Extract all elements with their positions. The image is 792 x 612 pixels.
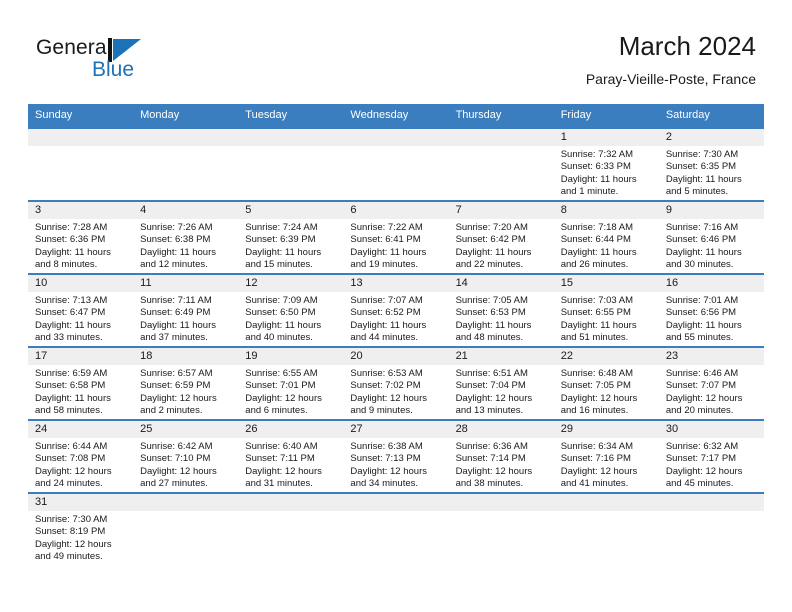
- day-detail-line: Daylight: 11 hours: [35, 247, 127, 259]
- day-detail-line: Daylight: 12 hours: [140, 466, 232, 478]
- day-detail-line: Daylight: 11 hours: [561, 247, 653, 259]
- title-block: March 2024 Paray-Vieille-Poste, France: [586, 30, 756, 89]
- day-number: [238, 129, 343, 146]
- day-detail-line: Sunset: 6:49 PM: [140, 307, 232, 319]
- day-cell-inner: 25Sunrise: 6:42 AMSunset: 7:10 PMDayligh…: [133, 421, 238, 492]
- calendar-empty-cell: [343, 128, 448, 201]
- day-detail-line: Sunrise: 6:34 AM: [561, 441, 653, 453]
- day-cell-inner: 7Sunrise: 7:20 AMSunset: 6:42 PMDaylight…: [449, 202, 554, 273]
- calendar-day-cell[interactable]: 3Sunrise: 7:28 AMSunset: 6:36 PMDaylight…: [28, 201, 133, 274]
- day-details: Sunrise: 6:38 AMSunset: 7:13 PMDaylight:…: [343, 438, 448, 491]
- day-cell-inner: [238, 129, 343, 200]
- day-detail-line: Sunrise: 7:30 AM: [666, 149, 758, 161]
- calendar-day-cell[interactable]: 7Sunrise: 7:20 AMSunset: 6:42 PMDaylight…: [449, 201, 554, 274]
- day-detail-line: Sunset: 6:46 PM: [666, 234, 758, 246]
- day-number: 3: [28, 202, 133, 219]
- day-cell-inner: [554, 494, 659, 565]
- day-detail-line: Sunrise: 6:40 AM: [245, 441, 337, 453]
- day-cell-inner: [238, 494, 343, 565]
- day-details: Sunrise: 7:01 AMSunset: 6:56 PMDaylight:…: [659, 292, 764, 345]
- day-detail-line: Daylight: 11 hours: [561, 174, 653, 186]
- day-detail-line: Sunset: 7:11 PM: [245, 453, 337, 465]
- day-detail-line: Sunset: 8:19 PM: [35, 526, 127, 538]
- day-detail-line: Sunrise: 7:03 AM: [561, 295, 653, 307]
- day-detail-line: Daylight: 11 hours: [561, 320, 653, 332]
- day-detail-line: Sunrise: 6:51 AM: [456, 368, 548, 380]
- day-number: [449, 129, 554, 146]
- day-detail-line: Sunset: 6:44 PM: [561, 234, 653, 246]
- day-detail-line: Daylight: 12 hours: [245, 393, 337, 405]
- day-detail-line: and 5 minutes.: [666, 186, 758, 198]
- day-detail-line: and 27 minutes.: [140, 478, 232, 490]
- calendar-day-cell[interactable]: 13Sunrise: 7:07 AMSunset: 6:52 PMDayligh…: [343, 274, 448, 347]
- day-detail-line: Daylight: 12 hours: [456, 466, 548, 478]
- day-detail-line: Daylight: 12 hours: [456, 393, 548, 405]
- day-detail-line: and 44 minutes.: [350, 332, 442, 344]
- day-details: Sunrise: 6:51 AMSunset: 7:04 PMDaylight:…: [449, 365, 554, 418]
- day-detail-line: Daylight: 12 hours: [140, 393, 232, 405]
- day-detail-line: Sunset: 7:08 PM: [35, 453, 127, 465]
- day-number: 23: [659, 348, 764, 365]
- day-cell-inner: [659, 494, 764, 565]
- day-detail-line: and 31 minutes.: [245, 478, 337, 490]
- day-cell-inner: [343, 494, 448, 565]
- day-detail-line: Sunset: 7:05 PM: [561, 380, 653, 392]
- day-cell-inner: 5Sunrise: 7:24 AMSunset: 6:39 PMDaylight…: [238, 202, 343, 273]
- day-number: 4: [133, 202, 238, 219]
- calendar-day-cell[interactable]: 11Sunrise: 7:11 AMSunset: 6:49 PMDayligh…: [133, 274, 238, 347]
- day-detail-line: Sunrise: 6:53 AM: [350, 368, 442, 380]
- day-detail-line: Sunset: 6:52 PM: [350, 307, 442, 319]
- day-detail-line: Sunset: 6:55 PM: [561, 307, 653, 319]
- day-detail-line: Daylight: 12 hours: [666, 466, 758, 478]
- day-number: 27: [343, 421, 448, 438]
- day-cell-inner: [28, 129, 133, 200]
- day-cell-inner: 10Sunrise: 7:13 AMSunset: 6:47 PMDayligh…: [28, 275, 133, 346]
- calendar-day-cell[interactable]: 22Sunrise: 6:48 AMSunset: 7:05 PMDayligh…: [554, 347, 659, 420]
- day-detail-line: and 12 minutes.: [140, 259, 232, 271]
- calendar-day-cell[interactable]: 30Sunrise: 6:32 AMSunset: 7:17 PMDayligh…: [659, 420, 764, 493]
- day-detail-line: Daylight: 12 hours: [561, 466, 653, 478]
- day-cell-inner: 31Sunrise: 7:30 AMSunset: 8:19 PMDayligh…: [28, 494, 133, 565]
- day-details: Sunrise: 7:30 AMSunset: 6:35 PMDaylight:…: [659, 146, 764, 199]
- day-detail-line: and 48 minutes.: [456, 332, 548, 344]
- day-cell-inner: [449, 494, 554, 565]
- day-detail-line: Sunset: 7:14 PM: [456, 453, 548, 465]
- day-detail-line: Daylight: 11 hours: [245, 320, 337, 332]
- day-detail-line: Daylight: 11 hours: [245, 247, 337, 259]
- weekday-header-saturday: Saturday: [659, 104, 764, 128]
- day-detail-line: and 49 minutes.: [35, 551, 127, 563]
- day-number: 28: [449, 421, 554, 438]
- day-number: [238, 494, 343, 511]
- day-detail-line: Daylight: 11 hours: [35, 320, 127, 332]
- day-details: Sunrise: 6:44 AMSunset: 7:08 PMDaylight:…: [28, 438, 133, 491]
- day-detail-line: and 20 minutes.: [666, 405, 758, 417]
- day-details: Sunrise: 7:24 AMSunset: 6:39 PMDaylight:…: [238, 219, 343, 272]
- day-detail-line: Sunrise: 6:44 AM: [35, 441, 127, 453]
- day-detail-line: Sunset: 7:16 PM: [561, 453, 653, 465]
- day-number: 13: [343, 275, 448, 292]
- day-cell-inner: 2Sunrise: 7:30 AMSunset: 6:35 PMDaylight…: [659, 129, 764, 200]
- day-detail-line: Sunset: 6:36 PM: [35, 234, 127, 246]
- day-detail-line: Sunrise: 7:09 AM: [245, 295, 337, 307]
- day-detail-line: Sunrise: 6:59 AM: [35, 368, 127, 380]
- day-detail-line: Sunset: 6:58 PM: [35, 380, 127, 392]
- calendar-day-cell[interactable]: 14Sunrise: 7:05 AMSunset: 6:53 PMDayligh…: [449, 274, 554, 347]
- day-detail-line: and 16 minutes.: [561, 405, 653, 417]
- calendar-empty-cell: [28, 128, 133, 201]
- calendar-week-row: 1Sunrise: 7:32 AMSunset: 6:33 PMDaylight…: [28, 128, 764, 201]
- day-detail-line: Sunrise: 7:20 AM: [456, 222, 548, 234]
- day-detail-line: and 13 minutes.: [456, 405, 548, 417]
- day-cell-inner: 22Sunrise: 6:48 AMSunset: 7:05 PMDayligh…: [554, 348, 659, 419]
- day-detail-line: Sunset: 6:50 PM: [245, 307, 337, 319]
- day-number: 6: [343, 202, 448, 219]
- day-details: Sunrise: 7:13 AMSunset: 6:47 PMDaylight:…: [28, 292, 133, 345]
- day-detail-line: Sunset: 6:47 PM: [35, 307, 127, 319]
- day-detail-line: Sunset: 7:07 PM: [666, 380, 758, 392]
- day-detail-line: and 15 minutes.: [245, 259, 337, 271]
- day-number: 5: [238, 202, 343, 219]
- day-details: Sunrise: 7:07 AMSunset: 6:52 PMDaylight:…: [343, 292, 448, 345]
- day-detail-line: and 37 minutes.: [140, 332, 232, 344]
- weekday-header-wednesday: Wednesday: [343, 104, 448, 128]
- day-cell-inner: 18Sunrise: 6:57 AMSunset: 6:59 PMDayligh…: [133, 348, 238, 419]
- day-cell-inner: 3Sunrise: 7:28 AMSunset: 6:36 PMDaylight…: [28, 202, 133, 273]
- day-detail-line: and 24 minutes.: [35, 478, 127, 490]
- day-number: 20: [343, 348, 448, 365]
- day-detail-line: Daylight: 12 hours: [35, 539, 127, 551]
- calendar-week-row: 31Sunrise: 7:30 AMSunset: 8:19 PMDayligh…: [28, 493, 764, 565]
- day-details: Sunrise: 7:11 AMSunset: 6:49 PMDaylight:…: [133, 292, 238, 345]
- day-detail-line: Sunset: 7:02 PM: [350, 380, 442, 392]
- day-detail-line: Daylight: 11 hours: [140, 320, 232, 332]
- day-detail-line: Daylight: 12 hours: [561, 393, 653, 405]
- day-number: [133, 129, 238, 146]
- day-detail-line: Daylight: 11 hours: [350, 247, 442, 259]
- day-cell-inner: 14Sunrise: 7:05 AMSunset: 6:53 PMDayligh…: [449, 275, 554, 346]
- day-detail-line: Sunset: 6:56 PM: [666, 307, 758, 319]
- day-number: 22: [554, 348, 659, 365]
- calendar-body: 1Sunrise: 7:32 AMSunset: 6:33 PMDaylight…: [28, 128, 764, 565]
- day-detail-line: Sunrise: 6:55 AM: [245, 368, 337, 380]
- day-details: Sunrise: 6:57 AMSunset: 6:59 PMDaylight:…: [133, 365, 238, 418]
- calendar-day-cell[interactable]: 21Sunrise: 6:51 AMSunset: 7:04 PMDayligh…: [449, 347, 554, 420]
- day-details: Sunrise: 6:48 AMSunset: 7:05 PMDaylight:…: [554, 365, 659, 418]
- day-detail-line: Daylight: 12 hours: [35, 466, 127, 478]
- calendar-day-cell[interactable]: 16Sunrise: 7:01 AMSunset: 6:56 PMDayligh…: [659, 274, 764, 347]
- day-number: 17: [28, 348, 133, 365]
- day-cell-inner: 9Sunrise: 7:16 AMSunset: 6:46 PMDaylight…: [659, 202, 764, 273]
- weekday-header-tuesday: Tuesday: [238, 104, 343, 128]
- day-detail-line: and 2 minutes.: [140, 405, 232, 417]
- day-detail-line: Daylight: 11 hours: [35, 393, 127, 405]
- day-details: Sunrise: 7:30 AMSunset: 8:19 PMDaylight:…: [28, 511, 133, 564]
- day-detail-line: Daylight: 11 hours: [350, 320, 442, 332]
- day-number: 16: [659, 275, 764, 292]
- calendar-day-cell[interactable]: 18Sunrise: 6:57 AMSunset: 6:59 PMDayligh…: [133, 347, 238, 420]
- calendar-day-cell[interactable]: 28Sunrise: 6:36 AMSunset: 7:14 PMDayligh…: [449, 420, 554, 493]
- calendar-day-cell[interactable]: 15Sunrise: 7:03 AMSunset: 6:55 PMDayligh…: [554, 274, 659, 347]
- calendar-empty-cell: [238, 493, 343, 565]
- calendar-empty-cell: [449, 493, 554, 565]
- day-detail-line: Sunset: 7:13 PM: [350, 453, 442, 465]
- day-number: 1: [554, 129, 659, 146]
- day-number: [659, 494, 764, 511]
- day-detail-line: and 1 minute.: [561, 186, 653, 198]
- day-cell-inner: 6Sunrise: 7:22 AMSunset: 6:41 PMDaylight…: [343, 202, 448, 273]
- day-detail-line: Sunrise: 7:18 AM: [561, 222, 653, 234]
- day-detail-line: Sunset: 6:38 PM: [140, 234, 232, 246]
- weekday-header-friday: Friday: [554, 104, 659, 128]
- brand-logo[interactable]: General Blue: [36, 36, 216, 88]
- calendar-day-cell[interactable]: 5Sunrise: 7:24 AMSunset: 6:39 PMDaylight…: [238, 201, 343, 274]
- day-detail-line: Sunrise: 6:48 AM: [561, 368, 653, 380]
- day-number: 18: [133, 348, 238, 365]
- day-cell-inner: [133, 494, 238, 565]
- calendar-empty-cell: [133, 128, 238, 201]
- calendar-week-row: 17Sunrise: 6:59 AMSunset: 6:58 PMDayligh…: [28, 347, 764, 420]
- day-detail-line: Sunrise: 7:30 AM: [35, 514, 127, 526]
- day-details: Sunrise: 6:46 AMSunset: 7:07 PMDaylight:…: [659, 365, 764, 418]
- day-cell-inner: 23Sunrise: 6:46 AMSunset: 7:07 PMDayligh…: [659, 348, 764, 419]
- day-number: 11: [133, 275, 238, 292]
- day-cell-inner: [133, 129, 238, 200]
- calendar-week-row: 24Sunrise: 6:44 AMSunset: 7:08 PMDayligh…: [28, 420, 764, 493]
- day-detail-line: Sunrise: 6:46 AM: [666, 368, 758, 380]
- day-cell-inner: 24Sunrise: 6:44 AMSunset: 7:08 PMDayligh…: [28, 421, 133, 492]
- day-details: Sunrise: 7:05 AMSunset: 6:53 PMDaylight:…: [449, 292, 554, 345]
- day-details: Sunrise: 6:32 AMSunset: 7:17 PMDaylight:…: [659, 438, 764, 491]
- day-details: Sunrise: 6:36 AMSunset: 7:14 PMDaylight:…: [449, 438, 554, 491]
- weekday-header-sunday: Sunday: [28, 104, 133, 128]
- day-cell-inner: 20Sunrise: 6:53 AMSunset: 7:02 PMDayligh…: [343, 348, 448, 419]
- day-cell-inner: 11Sunrise: 7:11 AMSunset: 6:49 PMDayligh…: [133, 275, 238, 346]
- calendar-day-cell[interactable]: 10Sunrise: 7:13 AMSunset: 6:47 PMDayligh…: [28, 274, 133, 347]
- day-cell-inner: 1Sunrise: 7:32 AMSunset: 6:33 PMDaylight…: [554, 129, 659, 200]
- day-cell-inner: 26Sunrise: 6:40 AMSunset: 7:11 PMDayligh…: [238, 421, 343, 492]
- day-cell-inner: 16Sunrise: 7:01 AMSunset: 6:56 PMDayligh…: [659, 275, 764, 346]
- calendar-empty-cell: [659, 493, 764, 565]
- day-detail-line: Daylight: 11 hours: [666, 247, 758, 259]
- day-number: 24: [28, 421, 133, 438]
- day-details: Sunrise: 7:28 AMSunset: 6:36 PMDaylight:…: [28, 219, 133, 272]
- page-header: General Blue March 2024 Paray-Vieille-Po…: [0, 0, 792, 103]
- calendar-day-cell[interactable]: 29Sunrise: 6:34 AMSunset: 7:16 PMDayligh…: [554, 420, 659, 493]
- calendar-empty-cell: [449, 128, 554, 201]
- page-subtitle: Paray-Vieille-Poste, France: [586, 69, 756, 89]
- day-detail-line: Sunset: 7:10 PM: [140, 453, 232, 465]
- day-details: Sunrise: 6:53 AMSunset: 7:02 PMDaylight:…: [343, 365, 448, 418]
- day-detail-line: Sunrise: 7:32 AM: [561, 149, 653, 161]
- day-number: [554, 494, 659, 511]
- day-details: Sunrise: 7:09 AMSunset: 6:50 PMDaylight:…: [238, 292, 343, 345]
- day-details: Sunrise: 7:18 AMSunset: 6:44 PMDaylight:…: [554, 219, 659, 272]
- calendar-week-row: 3Sunrise: 7:28 AMSunset: 6:36 PMDaylight…: [28, 201, 764, 274]
- day-detail-line: and 6 minutes.: [245, 405, 337, 417]
- day-cell-inner: 19Sunrise: 6:55 AMSunset: 7:01 PMDayligh…: [238, 348, 343, 419]
- calendar-table: SundayMondayTuesdayWednesdayThursdayFrid…: [28, 104, 764, 565]
- day-details: Sunrise: 6:34 AMSunset: 7:16 PMDaylight:…: [554, 438, 659, 491]
- day-number: 9: [659, 202, 764, 219]
- day-number: 7: [449, 202, 554, 219]
- day-number: [28, 129, 133, 146]
- calendar-day-cell[interactable]: 27Sunrise: 6:38 AMSunset: 7:13 PMDayligh…: [343, 420, 448, 493]
- day-cell-inner: 8Sunrise: 7:18 AMSunset: 6:44 PMDaylight…: [554, 202, 659, 273]
- day-number: [343, 494, 448, 511]
- calendar-day-cell[interactable]: 12Sunrise: 7:09 AMSunset: 6:50 PMDayligh…: [238, 274, 343, 347]
- day-detail-line: Sunrise: 7:24 AM: [245, 222, 337, 234]
- calendar-day-cell[interactable]: 19Sunrise: 6:55 AMSunset: 7:01 PMDayligh…: [238, 347, 343, 420]
- day-detail-line: Sunset: 7:04 PM: [456, 380, 548, 392]
- day-details: Sunrise: 7:26 AMSunset: 6:38 PMDaylight:…: [133, 219, 238, 272]
- day-detail-line: Daylight: 12 hours: [666, 393, 758, 405]
- day-detail-line: and 26 minutes.: [561, 259, 653, 271]
- day-detail-line: and 30 minutes.: [666, 259, 758, 271]
- day-details: Sunrise: 6:55 AMSunset: 7:01 PMDaylight:…: [238, 365, 343, 418]
- day-detail-line: Daylight: 11 hours: [456, 247, 548, 259]
- day-detail-line: Sunset: 6:53 PM: [456, 307, 548, 319]
- day-detail-line: and 40 minutes.: [245, 332, 337, 344]
- calendar-empty-cell: [554, 493, 659, 565]
- day-number: 12: [238, 275, 343, 292]
- day-number: [449, 494, 554, 511]
- day-detail-line: Sunrise: 6:32 AM: [666, 441, 758, 453]
- calendar-day-cell[interactable]: 8Sunrise: 7:18 AMSunset: 6:44 PMDaylight…: [554, 201, 659, 274]
- day-detail-line: Sunrise: 6:42 AM: [140, 441, 232, 453]
- weekday-header-monday: Monday: [133, 104, 238, 128]
- day-details: Sunrise: 6:40 AMSunset: 7:11 PMDaylight:…: [238, 438, 343, 491]
- day-detail-line: Sunrise: 7:22 AM: [350, 222, 442, 234]
- weekday-header-thursday: Thursday: [449, 104, 554, 128]
- day-detail-line: Sunrise: 7:28 AM: [35, 222, 127, 234]
- day-detail-line: Sunset: 6:35 PM: [666, 161, 758, 173]
- day-cell-inner: 27Sunrise: 6:38 AMSunset: 7:13 PMDayligh…: [343, 421, 448, 492]
- calendar-day-cell[interactable]: 2Sunrise: 7:30 AMSunset: 6:35 PMDaylight…: [659, 128, 764, 201]
- day-number: [343, 129, 448, 146]
- day-detail-line: Daylight: 11 hours: [666, 174, 758, 186]
- day-detail-line: Sunset: 6:39 PM: [245, 234, 337, 246]
- day-detail-line: Sunrise: 7:05 AM: [456, 295, 548, 307]
- calendar-day-cell[interactable]: 23Sunrise: 6:46 AMSunset: 7:07 PMDayligh…: [659, 347, 764, 420]
- day-detail-line: Sunrise: 6:38 AM: [350, 441, 442, 453]
- weekday-header-row: SundayMondayTuesdayWednesdayThursdayFrid…: [28, 104, 764, 128]
- day-number: 8: [554, 202, 659, 219]
- day-cell-inner: 4Sunrise: 7:26 AMSunset: 6:38 PMDaylight…: [133, 202, 238, 273]
- day-cell-inner: 13Sunrise: 7:07 AMSunset: 6:52 PMDayligh…: [343, 275, 448, 346]
- day-cell-inner: 17Sunrise: 6:59 AMSunset: 6:58 PMDayligh…: [28, 348, 133, 419]
- calendar-day-cell[interactable]: 26Sunrise: 6:40 AMSunset: 7:11 PMDayligh…: [238, 420, 343, 493]
- day-number: 31: [28, 494, 133, 511]
- day-detail-line: Sunset: 6:33 PM: [561, 161, 653, 173]
- day-number: 19: [238, 348, 343, 365]
- day-detail-line: and 22 minutes.: [456, 259, 548, 271]
- day-detail-line: Sunrise: 7:16 AM: [666, 222, 758, 234]
- day-detail-line: Sunset: 7:17 PM: [666, 453, 758, 465]
- calendar-empty-cell: [133, 493, 238, 565]
- day-details: Sunrise: 7:22 AMSunset: 6:41 PMDaylight:…: [343, 219, 448, 272]
- day-number: 2: [659, 129, 764, 146]
- day-detail-line: and 41 minutes.: [561, 478, 653, 490]
- day-number: 10: [28, 275, 133, 292]
- day-detail-line: and 58 minutes.: [35, 405, 127, 417]
- day-detail-line: Sunrise: 6:57 AM: [140, 368, 232, 380]
- day-detail-line: Sunrise: 6:36 AM: [456, 441, 548, 453]
- day-detail-line: Daylight: 11 hours: [666, 320, 758, 332]
- calendar-day-cell[interactable]: 25Sunrise: 6:42 AMSunset: 7:10 PMDayligh…: [133, 420, 238, 493]
- day-number: 14: [449, 275, 554, 292]
- day-detail-line: Sunset: 7:01 PM: [245, 380, 337, 392]
- day-number: [133, 494, 238, 511]
- day-detail-line: Daylight: 12 hours: [350, 393, 442, 405]
- calendar-day-cell[interactable]: 4Sunrise: 7:26 AMSunset: 6:38 PMDaylight…: [133, 201, 238, 274]
- calendar-day-cell[interactable]: 24Sunrise: 6:44 AMSunset: 7:08 PMDayligh…: [28, 420, 133, 493]
- day-detail-line: Sunset: 6:59 PM: [140, 380, 232, 392]
- day-cell-inner: [343, 129, 448, 200]
- day-detail-line: Sunrise: 7:01 AM: [666, 295, 758, 307]
- day-details: Sunrise: 7:16 AMSunset: 6:46 PMDaylight:…: [659, 219, 764, 272]
- day-detail-line: and 55 minutes.: [666, 332, 758, 344]
- day-detail-line: Daylight: 11 hours: [456, 320, 548, 332]
- day-detail-line: Sunset: 6:41 PM: [350, 234, 442, 246]
- calendar-day-cell[interactable]: 31Sunrise: 7:30 AMSunset: 8:19 PMDayligh…: [28, 493, 133, 565]
- day-cell-inner: [449, 129, 554, 200]
- calendar-day-cell[interactable]: 1Sunrise: 7:32 AMSunset: 6:33 PMDaylight…: [554, 128, 659, 201]
- calendar-empty-cell: [343, 493, 448, 565]
- day-detail-line: Sunrise: 7:07 AM: [350, 295, 442, 307]
- day-detail-line: Daylight: 12 hours: [245, 466, 337, 478]
- day-cell-inner: 28Sunrise: 6:36 AMSunset: 7:14 PMDayligh…: [449, 421, 554, 492]
- day-detail-line: and 9 minutes.: [350, 405, 442, 417]
- calendar-day-cell[interactable]: 9Sunrise: 7:16 AMSunset: 6:46 PMDaylight…: [659, 201, 764, 274]
- day-detail-line: and 8 minutes.: [35, 259, 127, 271]
- day-detail-line: Sunrise: 7:11 AM: [140, 295, 232, 307]
- day-number: 26: [238, 421, 343, 438]
- calendar-header-row: SundayMondayTuesdayWednesdayThursdayFrid…: [28, 104, 764, 128]
- day-details: Sunrise: 7:03 AMSunset: 6:55 PMDaylight:…: [554, 292, 659, 345]
- brand-name-blue: Blue: [92, 58, 134, 82]
- day-cell-inner: 29Sunrise: 6:34 AMSunset: 7:16 PMDayligh…: [554, 421, 659, 492]
- day-cell-inner: 12Sunrise: 7:09 AMSunset: 6:50 PMDayligh…: [238, 275, 343, 346]
- day-detail-line: and 45 minutes.: [666, 478, 758, 490]
- page-title: March 2024: [586, 30, 756, 62]
- day-number: 29: [554, 421, 659, 438]
- day-detail-line: and 51 minutes.: [561, 332, 653, 344]
- calendar-empty-cell: [238, 128, 343, 201]
- day-details: Sunrise: 7:20 AMSunset: 6:42 PMDaylight:…: [449, 219, 554, 272]
- day-number: 30: [659, 421, 764, 438]
- day-cell-inner: 21Sunrise: 6:51 AMSunset: 7:04 PMDayligh…: [449, 348, 554, 419]
- day-detail-line: Daylight: 12 hours: [350, 466, 442, 478]
- day-details: Sunrise: 7:32 AMSunset: 6:33 PMDaylight:…: [554, 146, 659, 199]
- calendar-day-cell[interactable]: 20Sunrise: 6:53 AMSunset: 7:02 PMDayligh…: [343, 347, 448, 420]
- calendar-week-row: 10Sunrise: 7:13 AMSunset: 6:47 PMDayligh…: [28, 274, 764, 347]
- day-detail-line: Daylight: 11 hours: [140, 247, 232, 259]
- calendar-day-cell[interactable]: 17Sunrise: 6:59 AMSunset: 6:58 PMDayligh…: [28, 347, 133, 420]
- day-number: 15: [554, 275, 659, 292]
- calendar-page: General Blue March 2024 Paray-Vieille-Po…: [0, 0, 792, 612]
- day-details: Sunrise: 6:42 AMSunset: 7:10 PMDaylight:…: [133, 438, 238, 491]
- day-detail-line: Sunrise: 7:13 AM: [35, 295, 127, 307]
- brand-name-general: General: [36, 36, 111, 60]
- day-number: 21: [449, 348, 554, 365]
- calendar-day-cell[interactable]: 6Sunrise: 7:22 AMSunset: 6:41 PMDaylight…: [343, 201, 448, 274]
- day-detail-line: Sunrise: 7:26 AM: [140, 222, 232, 234]
- day-detail-line: and 19 minutes.: [350, 259, 442, 271]
- day-detail-line: Sunset: 6:42 PM: [456, 234, 548, 246]
- day-detail-line: and 33 minutes.: [35, 332, 127, 344]
